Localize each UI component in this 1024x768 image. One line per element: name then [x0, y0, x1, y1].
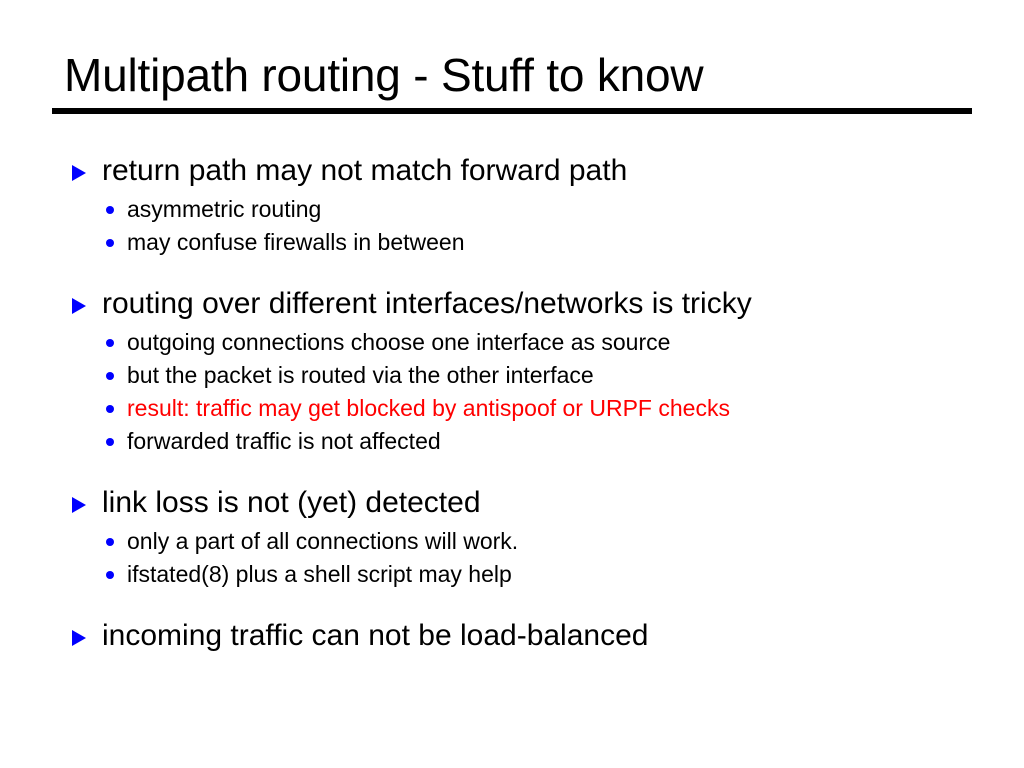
sub-bullet-list: asymmetric routing may confuse firewalls… [64, 193, 994, 259]
bullet-level1: link loss is not (yet) detected [64, 484, 994, 522]
bullet-group: incoming traffic can not be load-balance… [64, 617, 994, 655]
bullet-group: routing over different interfaces/networ… [64, 285, 994, 458]
bullet-group: return path may not match forward path a… [64, 152, 994, 259]
bullet-level2: asymmetric routing [64, 193, 994, 226]
round-bullet-icon [106, 239, 114, 247]
bullet-level2: outgoing connections choose one interfac… [64, 326, 994, 359]
bullet-level2-label: result: traffic may get blocked by antis… [127, 395, 730, 421]
bullet-level1: routing over different interfaces/networ… [64, 285, 994, 323]
bullet-level1-label: return path may not match forward path [102, 154, 627, 187]
round-bullet-icon [106, 571, 114, 579]
bullet-level1: incoming traffic can not be load-balance… [64, 617, 994, 655]
round-bullet-icon [106, 405, 114, 413]
bullet-level1-label: routing over different interfaces/networ… [102, 287, 752, 320]
slide-body: return path may not match forward path a… [64, 152, 994, 655]
page-title: Multipath routing - Stuff to know [52, 48, 972, 102]
sub-bullet-list: only a part of all connections will work… [64, 525, 994, 591]
bullet-level2: but the packet is routed via the other i… [64, 359, 994, 392]
bullet-level2-label: may confuse firewalls in between [127, 229, 465, 255]
bullet-level2: only a part of all connections will work… [64, 525, 994, 558]
round-bullet-icon [106, 206, 114, 214]
bullet-group: link loss is not (yet) detected only a p… [64, 484, 994, 591]
bullet-level2-label: forwarded traffic is not affected [127, 428, 441, 454]
bullet-level2-label: ifstated(8) plus a shell script may help [127, 561, 512, 587]
bullet-level2-label: but the packet is routed via the other i… [127, 362, 594, 388]
bullet-level1-label: link loss is not (yet) detected [102, 486, 481, 519]
bullet-level1-label: incoming traffic can not be load-balance… [102, 619, 648, 652]
bullet-level2-label: asymmetric routing [127, 196, 321, 222]
triangle-right-bullet-icon [72, 497, 86, 513]
slide-title-block: Multipath routing - Stuff to know [52, 48, 972, 114]
presentation-slide: Multipath routing - Stuff to know return… [0, 0, 1024, 768]
round-bullet-icon [106, 438, 114, 446]
bullet-level2: ifstated(8) plus a shell script may help [64, 558, 994, 591]
bullet-level2-label: only a part of all connections will work… [127, 528, 518, 554]
triangle-right-bullet-icon [72, 165, 86, 181]
triangle-right-bullet-icon [72, 298, 86, 314]
triangle-right-bullet-icon [72, 630, 86, 646]
title-underline-rule [52, 108, 972, 114]
bullet-level2: may confuse firewalls in between [64, 226, 994, 259]
bullet-level2-highlighted: result: traffic may get blocked by antis… [64, 392, 994, 425]
bullet-level2-label: outgoing connections choose one interfac… [127, 329, 670, 355]
round-bullet-icon [106, 538, 114, 546]
bullet-level1: return path may not match forward path [64, 152, 994, 190]
bullet-level2: forwarded traffic is not affected [64, 425, 994, 458]
round-bullet-icon [106, 372, 114, 380]
round-bullet-icon [106, 339, 114, 347]
sub-bullet-list: outgoing connections choose one interfac… [64, 326, 994, 458]
